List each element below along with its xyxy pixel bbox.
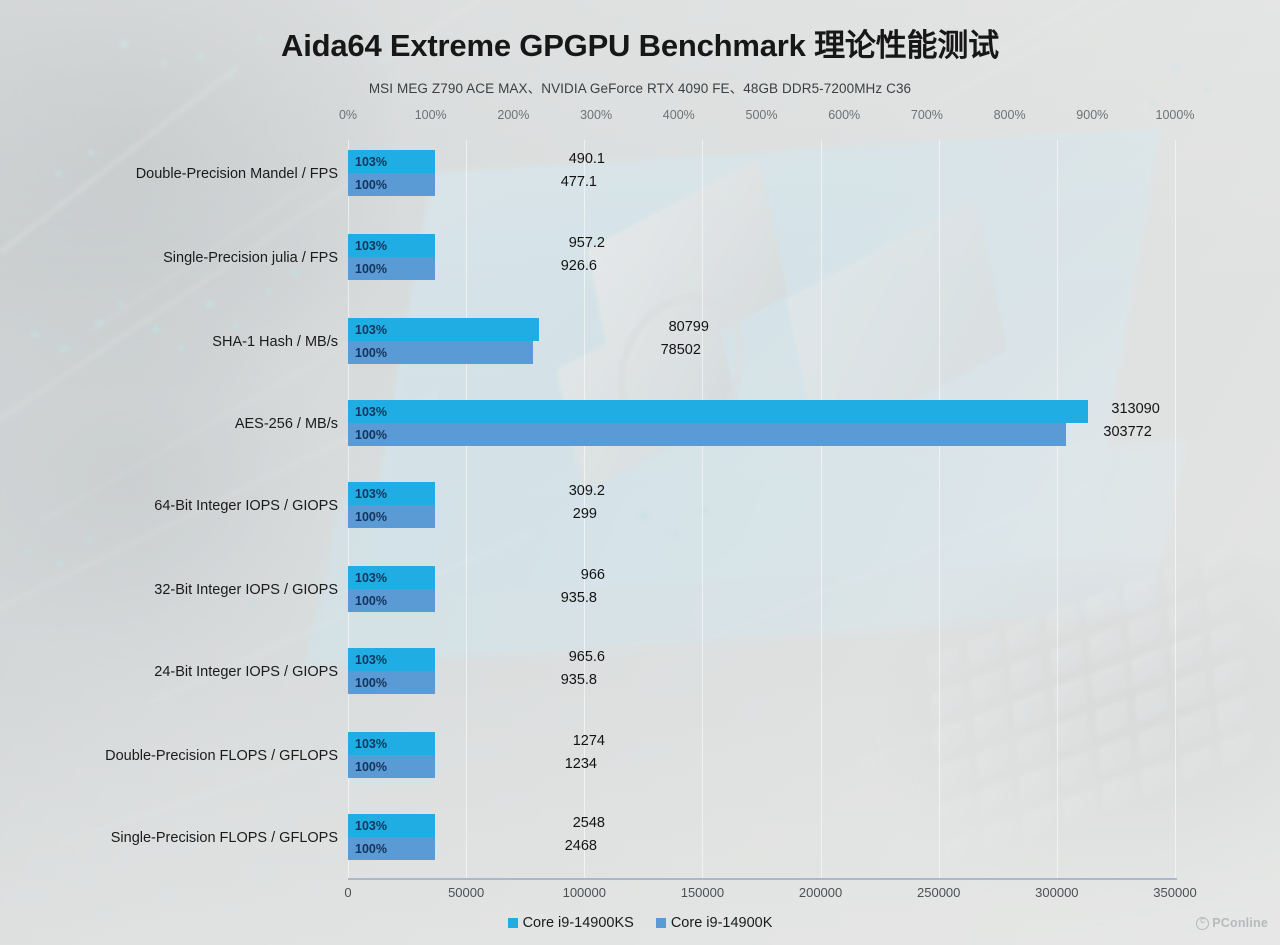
chart-legend: Core i9-14900KSCore i9-14900K	[0, 915, 1280, 931]
percent-axis-top: 0%100%200%300%400%500%600%700%800%900%10…	[348, 108, 1175, 126]
bar-value-label: 78502	[348, 342, 701, 358]
value-axis-tick: 50000	[448, 885, 484, 900]
bar-value-label: 1234	[348, 756, 597, 772]
percent-axis-tick: 200%	[497, 108, 529, 122]
percent-axis-tick: 900%	[1076, 108, 1108, 122]
percent-axis-tick: 700%	[911, 108, 943, 122]
percent-axis-tick: 400%	[663, 108, 695, 122]
bar-value-label: 303772	[348, 424, 1152, 440]
bar-value-label: 935.8	[348, 672, 597, 688]
plot-area: Double-Precision Mandel / FPS103%100%490…	[348, 140, 1175, 878]
chart-row: Single-Precision julia / FPS103%100%957.…	[348, 234, 1175, 282]
bar-value-label: 490.1	[348, 151, 605, 167]
bar-value-label: 2548	[348, 815, 605, 831]
category-label: 24-Bit Integer IOPS / GIOPS	[154, 664, 338, 680]
watermark-label: PConline	[1212, 916, 1268, 930]
legend-swatch-icon	[656, 918, 666, 928]
bar-value-label: 2468	[348, 838, 597, 854]
category-label: 64-Bit Integer IOPS / GIOPS	[154, 498, 338, 514]
category-label: Double-Precision Mandel / FPS	[136, 166, 338, 182]
bar-value-label: 309.2	[348, 483, 605, 499]
value-axis-tick: 0	[344, 885, 351, 900]
bar-value-label: 926.6	[348, 258, 597, 274]
bar-value-label: 965.6	[348, 649, 605, 665]
bar-value-label: 80799	[348, 319, 709, 335]
legend-item[interactable]: Core i9-14900K	[656, 915, 773, 931]
bar-value-label: 1274	[348, 733, 605, 749]
value-axis-tick: 200000	[799, 885, 842, 900]
chart-row: Double-Precision FLOPS / GFLOPS103%100%1…	[348, 732, 1175, 780]
category-label: SHA-1 Hash / MB/s	[212, 334, 338, 350]
percent-axis-tick: 1000%	[1156, 108, 1195, 122]
bar-value-label: 313090	[348, 401, 1160, 417]
watermark: C PConline	[1196, 916, 1268, 930]
x-axis-line	[348, 878, 1177, 880]
chart-row: Single-Precision FLOPS / GFLOPS103%100%2…	[348, 814, 1175, 862]
legend-label: Core i9-14900K	[671, 915, 773, 931]
chart-container: Aida64 Extreme GPGPU Benchmark 理论性能测试 MS…	[0, 0, 1280, 945]
category-label: Single-Precision julia / FPS	[163, 250, 338, 266]
chart-row: Double-Precision Mandel / FPS103%100%490…	[348, 150, 1175, 198]
copyright-icon: C	[1196, 917, 1209, 930]
chart-row: AES-256 / MB/s103%100%313090303772	[348, 400, 1175, 448]
legend-item[interactable]: Core i9-14900KS	[508, 915, 634, 931]
chart-row: 24-Bit Integer IOPS / GIOPS103%100%965.6…	[348, 648, 1175, 696]
value-axis-bottom: 0500001000001500002000002500003000003500…	[348, 885, 1175, 905]
percent-axis-tick: 600%	[828, 108, 860, 122]
chart-row: 64-Bit Integer IOPS / GIOPS103%100%309.2…	[348, 482, 1175, 530]
value-axis-tick: 250000	[917, 885, 960, 900]
value-axis-tick: 150000	[681, 885, 724, 900]
value-axis-tick: 300000	[1035, 885, 1078, 900]
category-label: 32-Bit Integer IOPS / GIOPS	[154, 582, 338, 598]
chart-row: 32-Bit Integer IOPS / GIOPS103%100%96693…	[348, 566, 1175, 614]
value-axis-tick: 100000	[563, 885, 606, 900]
bar-value-label: 957.2	[348, 235, 605, 251]
category-label: Single-Precision FLOPS / GFLOPS	[111, 830, 338, 846]
bar-value-label: 299	[348, 506, 597, 522]
chart-row: SHA-1 Hash / MB/s103%100%8079978502	[348, 318, 1175, 366]
percent-axis-tick: 0%	[339, 108, 357, 122]
bar-value-label: 935.8	[348, 590, 597, 606]
legend-label: Core i9-14900KS	[523, 915, 634, 931]
percent-axis-tick: 800%	[994, 108, 1026, 122]
category-label: AES-256 / MB/s	[235, 416, 338, 432]
bar-value-label: 477.1	[348, 174, 597, 190]
gridline	[1175, 140, 1176, 878]
page-title: Aida64 Extreme GPGPU Benchmark 理论性能测试	[0, 20, 1280, 65]
test-platform-subtitle: MSI MEG Z790 ACE MAX、NVIDIA GeForce RTX …	[0, 77, 1280, 97]
value-axis-tick: 350000	[1153, 885, 1196, 900]
bar-value-label: 966	[348, 567, 605, 583]
percent-axis-tick: 100%	[415, 108, 447, 122]
legend-swatch-icon	[508, 918, 518, 928]
percent-axis-tick: 500%	[746, 108, 778, 122]
percent-axis-tick: 300%	[580, 108, 612, 122]
category-label: Double-Precision FLOPS / GFLOPS	[105, 748, 338, 764]
